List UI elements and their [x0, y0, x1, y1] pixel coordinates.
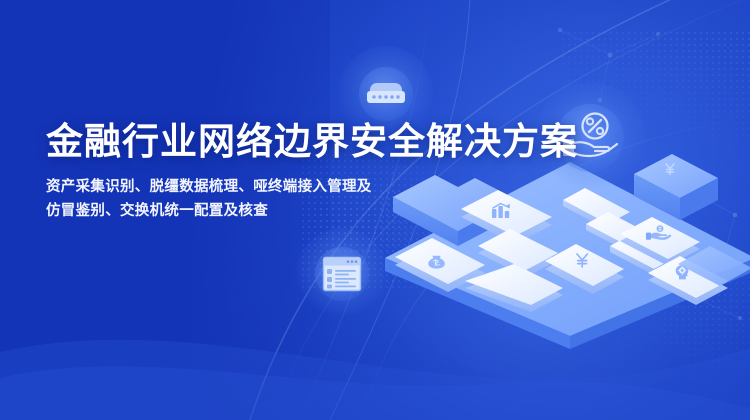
- page-subtitle-line-1: 资产采集识别、脱缰数据梳理、哑终端接入管理及: [46, 176, 578, 200]
- page-title: 金融行业网络边界安全解决方案: [46, 122, 578, 162]
- router-switch-icon: [363, 78, 409, 110]
- page-subtitle-line-2: 仿冒鉴别、交换机统一配置及核查: [46, 200, 578, 224]
- headline-block: 金融行业网络边界安全解决方案 资产采集识别、脱缰数据梳理、哑终端接入管理及 仿冒…: [46, 122, 578, 224]
- background-waves: [0, 300, 750, 420]
- finance-network-security-banner: 金融行业网络边界安全解决方案 资产采集识别、脱缰数据梳理、哑终端接入管理及 仿冒…: [0, 0, 750, 420]
- page-subtitle: 资产采集识别、脱缰数据梳理、哑终端接入管理及 仿冒鉴别、交换机统一配置及核查: [46, 176, 578, 224]
- document-checklist-icon: [322, 256, 362, 292]
